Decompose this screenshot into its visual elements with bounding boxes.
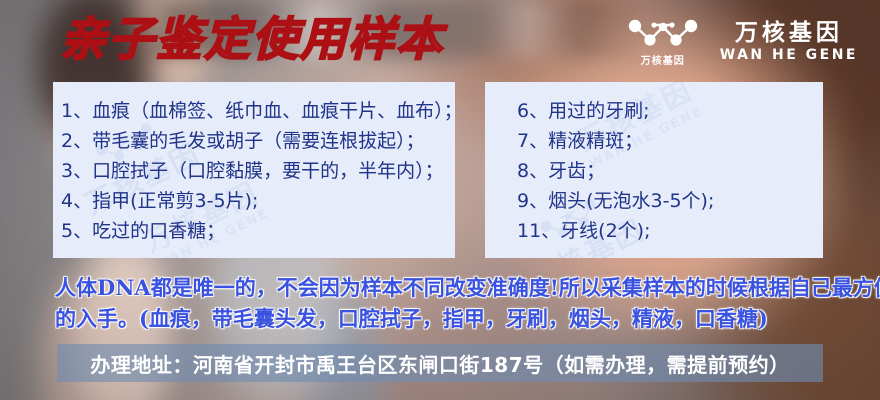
sample-list-right: 6、用过的牙刷; 7、精液精斑； 8、牙齿； 9、烟头(无泡水3-5个); 11… [485, 82, 823, 246]
poster-root: 亲子鉴定使用样本 [0, 0, 880, 400]
list-item: 2、带毛囊的毛发或胡子（需要连根拔起）； [61, 126, 455, 156]
list-item: 1、血痕（血棉签、纸巾血、血痕干片、血布）； [61, 96, 455, 126]
sample-list-left: 1、血痕（血棉签、纸巾血、血痕干片、血布）； 2、带毛囊的毛发或胡子（需要连根拔… [53, 82, 455, 246]
list-item: 5、吃过的口香糖； [61, 216, 455, 246]
note-line-2: 的入手。(血痕，带毛囊头发，口腔拭子，指甲，牙刷，烟头，精液，口香糖) [55, 303, 845, 334]
sample-list-panel-left: 万核基因 WAN HE GENE 万核基因 [53, 82, 455, 258]
sample-list-panel-right: 万核基因 WAN HE GENE 万核基因 [485, 82, 823, 258]
list-item: 6、用过的牙刷; [517, 96, 823, 126]
list-item: 11、牙线(2个); [517, 216, 823, 246]
dna-molecule-icon [624, 16, 702, 50]
list-item: 4、指甲(正常剪3-5片); [61, 186, 455, 216]
note-paragraph: 人体DNA都是唯一的，不会因为样本不同改变准确度!所以采集样本的时候根据自己最方… [55, 272, 845, 334]
brand-logo: 万核基因 万核基因 WAN HE GENE [624, 16, 858, 67]
note-line-1: 人体DNA都是唯一的，不会因为样本不同改变准确度!所以采集样本的时候根据自己最方… [55, 272, 845, 303]
brand-wordmark: 万核基因 WAN HE GENE [720, 20, 858, 63]
brand-mark-label: 万核基因 [641, 52, 685, 67]
address-text: 办理地址：河南省开封市禹王台区东闸口街187号（如需办理，需提前预约） [90, 349, 789, 378]
list-item: 3、口腔拭子（口腔黏膜，要干的，半年内）； [61, 156, 455, 186]
brand-name-cn: 万核基因 [735, 20, 843, 46]
page-title: 亲子鉴定使用样本 [60, 13, 444, 65]
list-item: 8、牙齿； [517, 156, 823, 186]
address-band: 办理地址：河南省开封市禹王台区东闸口街187号（如需办理，需提前预约） [57, 344, 823, 382]
list-item: 7、精液精斑； [517, 126, 823, 156]
brand-mark: 万核基因 [624, 16, 702, 67]
brand-name-en: WAN HE GENE [720, 47, 858, 63]
list-item: 9、烟头(无泡水3-5个); [517, 186, 823, 216]
